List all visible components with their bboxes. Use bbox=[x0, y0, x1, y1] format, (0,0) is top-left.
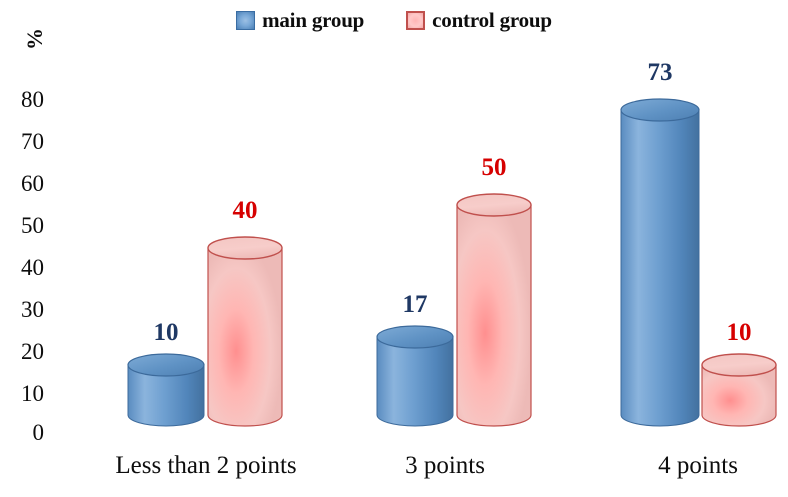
cylinder-body bbox=[377, 337, 453, 426]
cylinder-body bbox=[457, 205, 531, 426]
x-category-label-less-than-2-points: Less than 2 points bbox=[76, 452, 336, 480]
value-label-control-group-3-points: 50 bbox=[464, 155, 524, 180]
cylinder-top bbox=[457, 194, 531, 216]
value-label-main-group-less-than-2-points: 10 bbox=[136, 320, 196, 345]
bar-control-group-3-points[interactable] bbox=[457, 194, 531, 426]
bar-main-group-less-than-2-points[interactable] bbox=[128, 354, 204, 426]
x-category-label-4-points: 4 points bbox=[608, 452, 788, 480]
bar-main-group-4-points[interactable] bbox=[621, 99, 699, 426]
cylinder-top bbox=[621, 99, 699, 121]
value-label-main-group-3-points: 17 bbox=[385, 292, 445, 317]
cylinder-top bbox=[702, 354, 776, 376]
bar-chart: main group control group % 80 70 60 50 4… bbox=[0, 0, 788, 497]
bar-main-group-3-points[interactable] bbox=[377, 326, 453, 426]
cylinder-body bbox=[208, 248, 282, 426]
cylinder-body bbox=[621, 110, 699, 426]
cylinder-top bbox=[128, 354, 204, 376]
bar-control-group-4-points[interactable] bbox=[702, 354, 776, 426]
value-label-main-group-4-points: 73 bbox=[630, 60, 690, 85]
cylinder-top bbox=[208, 237, 282, 259]
x-category-label-3-points: 3 points bbox=[355, 452, 535, 480]
value-label-control-group-4-points: 10 bbox=[709, 320, 769, 345]
bar-control-group-less-than-2-points[interactable] bbox=[208, 237, 282, 426]
cylinder-top bbox=[377, 326, 453, 348]
value-label-control-group-less-than-2-points: 40 bbox=[215, 198, 275, 223]
